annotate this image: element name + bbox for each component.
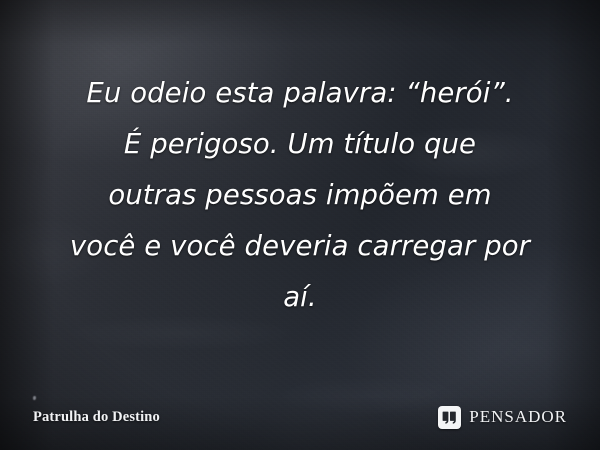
footer: Patrulha do Destino PENSADOR — [0, 394, 600, 450]
quotation-mark-icon — [438, 406, 461, 429]
quote-card: Eu odeio esta palavra: “herói”. É perigo… — [0, 0, 600, 450]
brand-logo[interactable]: PENSADOR — [438, 406, 567, 429]
brand-name: PENSADOR — [469, 407, 567, 427]
quote-author[interactable]: Patrulha do Destino — [33, 409, 160, 426]
quote-text: Eu odeio esta palavra: “herói”. É perigo… — [0, 68, 600, 323]
